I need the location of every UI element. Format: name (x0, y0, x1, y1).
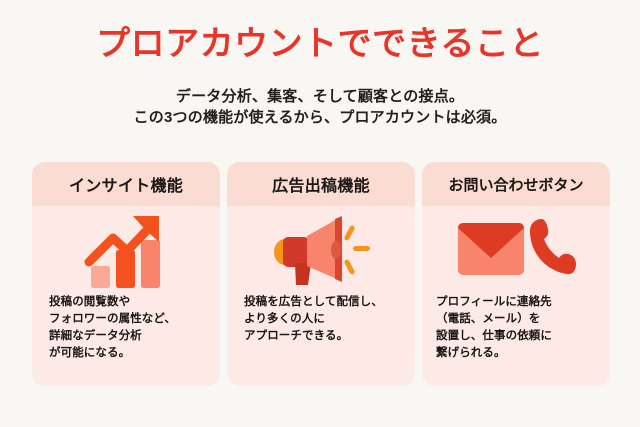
infographic-slide: プロアカウントでできること データ分析、集客、そして顧客との接点。 この3つの機… (0, 0, 640, 427)
feature-card-advertising-description: 投稿を広告として配信し、 より多くの人に アプローチできる。 (227, 294, 415, 386)
description-line: 投稿の閲覧数や (49, 294, 220, 311)
feature-card-advertising-header: 広告出稿機能 (227, 162, 415, 206)
feature-card-contact-description: プロフィールに連絡先 （電話、メール）を 設置し、仕事の依頼に 繋げられる。 (422, 294, 610, 386)
page-subtitle: データ分析、集客、そして顧客との接点。 この3つの機能が使えるから、プロアカウン… (0, 86, 640, 128)
description-line: 投稿を広告として配信し、 (244, 294, 415, 311)
feature-card-advertising-title: 広告出稿機能 (272, 172, 370, 196)
feature-card-insight-description: 投稿の閲覧数や フォロワーの属性など、 詳細なデータ分析 が可能になる。 (32, 294, 220, 386)
description-line: アプローチできる。 (244, 328, 415, 345)
description-line: （電話、メール）を (436, 311, 610, 328)
description-line: フォロワーの属性など、 (49, 311, 220, 328)
feature-card-insight-header: インサイト機能 (32, 162, 220, 206)
envelope-icon (458, 223, 524, 275)
description-line: 詳細なデータ分析 (49, 328, 220, 345)
envelope-and-phone-icon (422, 206, 610, 294)
description-line: 繋げられる。 (436, 345, 610, 362)
phone-icon (530, 219, 576, 274)
feature-card-contact: お問い合わせボタン プロフィールに連絡先 （電話、メール）を (422, 162, 610, 386)
feature-card-contact-header: お問い合わせボタン (422, 162, 610, 206)
description-line: プロフィールに連絡先 (436, 294, 610, 311)
page-title: プロアカウントでできること (0, 22, 640, 66)
feature-card-contact-title: お問い合わせボタン (448, 174, 583, 195)
feature-card-insight-title: インサイト機能 (69, 172, 183, 196)
description-line: が可能になる。 (49, 345, 220, 362)
description-line: 設置し、仕事の依頼に (436, 328, 610, 345)
description-line: より多くの人に (244, 311, 415, 328)
bar-chart-growth-icon (32, 206, 220, 294)
subtitle-line-1: データ分析、集客、そして顧客との接点。 (0, 86, 640, 107)
feature-card-advertising: 広告出稿機能 (227, 162, 415, 386)
megaphone-icon (227, 206, 415, 294)
feature-card-insight: インサイト機能 投稿の閲覧数や フォロワーの属性など、 詳細なデータ分析 が可能… (32, 162, 220, 386)
feature-card-list: インサイト機能 投稿の閲覧数や フォロワーの属性など、 詳細なデータ分析 が可能… (32, 162, 610, 386)
subtitle-line-2: この3つの機能が使えるから、プロアカウントは必須。 (0, 107, 640, 128)
